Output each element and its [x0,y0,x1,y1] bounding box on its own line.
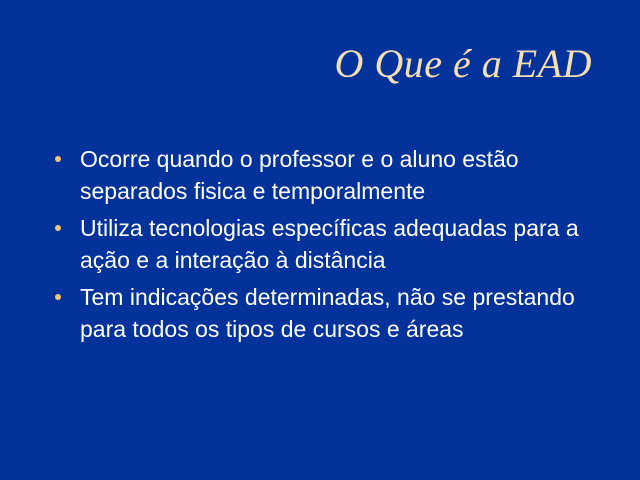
slide-title: O Que é a EAD [60,38,592,96]
list-item-text: Utiliza tecnologias específicas adequada… [80,212,590,276]
list-item-text: Ocorre quando o professor e o aluno estã… [80,143,590,207]
list-item-text: Tem indicações determinadas, não se pres… [80,281,590,345]
slide-body-bullet-list: Ocorre quando o professor e o aluno estã… [50,143,590,345]
list-item: Utiliza tecnologias específicas adequada… [50,212,590,276]
bullet-dot-icon [55,225,61,231]
list-item: Ocorre quando o professor e o aluno estã… [50,143,590,207]
bullet-dot-icon [55,156,61,162]
bullet-dot-icon [55,294,61,300]
presentation-slide: O Que é a EAD Ocorre quando o professor … [0,0,640,480]
list-item: Tem indicações determinadas, não se pres… [50,281,590,345]
